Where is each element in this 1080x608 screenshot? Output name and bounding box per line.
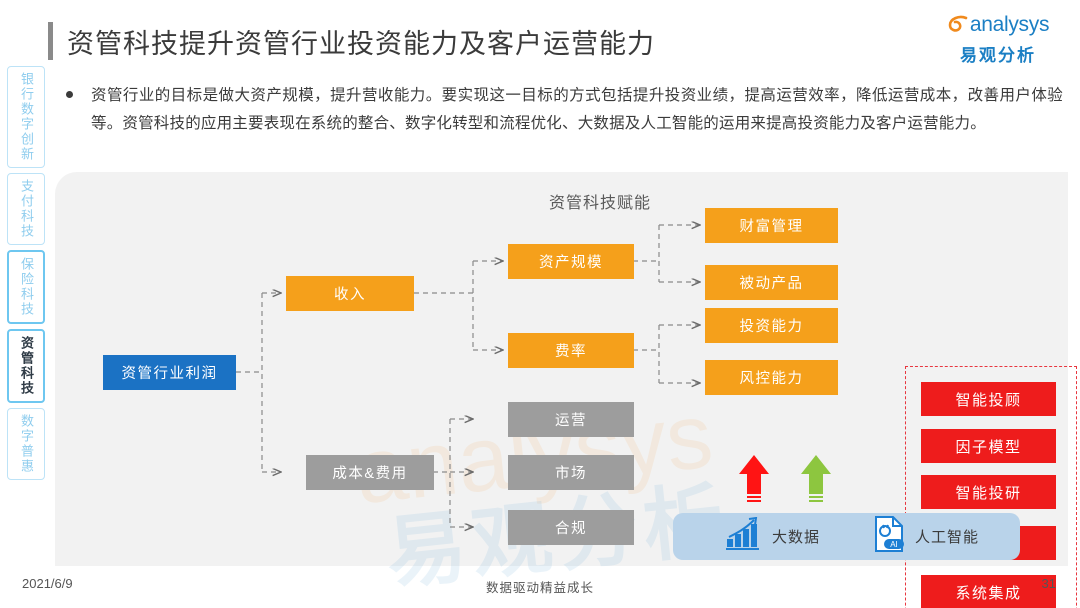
foundation-item-ai[interactable]: AI 人工智能 xyxy=(872,515,979,558)
bullet-paragraph-text: 资管行业的目标是做大资产规模，提升营收能力。要实现这一目标的方式包括提升投资业绩… xyxy=(91,82,1063,138)
logo-swoosh-icon xyxy=(947,14,969,36)
green-up-arrow-icon xyxy=(800,454,832,506)
red-up-arrow-icon xyxy=(738,454,770,506)
footer: 2021/6/9 数据驱动精益成长 31 xyxy=(0,568,1080,608)
page-title-text: 资管科技提升资管行业投资能力及客户运营能力 xyxy=(67,22,655,61)
bullet-dot-icon xyxy=(66,91,73,98)
node-smart-research[interactable]: 智能投研 xyxy=(921,475,1056,509)
node-compliance[interactable]: 合规 xyxy=(508,510,634,545)
node-investment-capability[interactable]: 投资能力 xyxy=(705,308,838,343)
title-accent-bar xyxy=(48,22,53,60)
node-smart-advisor[interactable]: 智能投顾 xyxy=(921,382,1056,416)
node-risk-control-capability[interactable]: 风控能力 xyxy=(705,360,838,395)
foundation-label-ai: 人工智能 xyxy=(915,526,979,547)
sidebar-item-asset-management[interactable]: 资管科技 xyxy=(7,329,45,403)
node-market[interactable]: 市场 xyxy=(508,455,634,490)
sidebar-item-inclusive-finance[interactable]: 数字普惠 xyxy=(7,408,45,480)
node-operations[interactable]: 运营 xyxy=(508,402,634,437)
logo-chinese-name: 易观分析 xyxy=(934,41,1062,66)
sidebar: 银行数字创新 支付科技 保险科技 资管科技 数字普惠 xyxy=(7,66,45,485)
node-cost-expense[interactable]: 成本&费用 xyxy=(306,455,434,490)
node-asset-scale[interactable]: 资产规模 xyxy=(508,244,634,279)
analysys-logo: analysys 易观分析 xyxy=(934,10,1062,64)
page-title: 资管科技提升资管行业投资能力及客户运营能力 xyxy=(48,18,908,64)
diagram-title: 资管科技赋能 xyxy=(510,189,690,213)
diagram-panel: analysys 易观分析 资管科技赋能 xyxy=(55,172,1068,566)
node-asset-management-profit[interactable]: 资管行业利润 xyxy=(103,355,236,390)
sidebar-item-banking[interactable]: 银行数字创新 xyxy=(7,66,45,168)
bar-chart-icon xyxy=(725,517,763,556)
sidebar-item-insurance[interactable]: 保险科技 xyxy=(7,250,45,324)
foundation-item-bigdata[interactable]: 大数据 xyxy=(725,517,820,556)
node-wealth-management[interactable]: 财富管理 xyxy=(705,208,838,243)
foundation-card: 大数据 AI 人工智能 xyxy=(673,513,1020,560)
logo-wordmark: analysys xyxy=(970,13,1049,37)
node-fee-rate[interactable]: 费率 xyxy=(508,333,634,368)
bullet-paragraph: 资管行业的目标是做大资产规模，提升营收能力。要实现这一目标的方式包括提升投资业绩… xyxy=(58,82,1063,138)
foundation-label-bigdata: 大数据 xyxy=(772,526,820,547)
ai-document-icon: AI xyxy=(872,515,906,558)
node-factor-model[interactable]: 因子模型 xyxy=(921,429,1056,463)
slide-page: 资管科技提升资管行业投资能力及客户运营能力 analysys 易观分析 银行数字… xyxy=(0,0,1080,608)
sidebar-item-payment[interactable]: 支付科技 xyxy=(7,173,45,245)
node-revenue[interactable]: 收入 xyxy=(286,276,414,311)
footer-slogan: 数据驱动精益成长 xyxy=(0,577,1080,596)
svg-text:AI: AI xyxy=(890,540,898,549)
node-passive-products[interactable]: 被动产品 xyxy=(705,265,838,300)
footer-page-number: 31 xyxy=(1042,576,1056,591)
